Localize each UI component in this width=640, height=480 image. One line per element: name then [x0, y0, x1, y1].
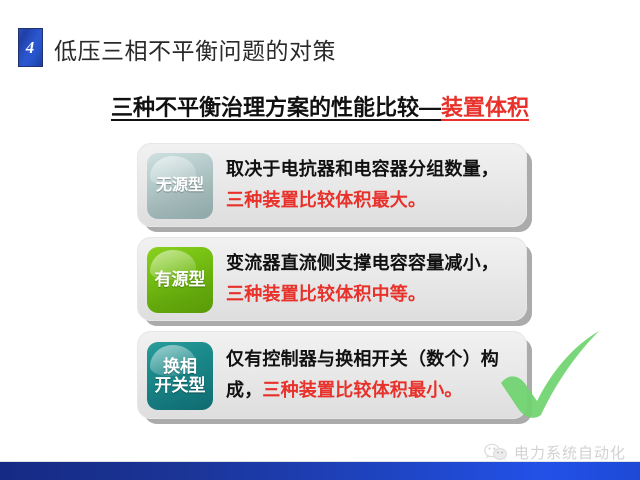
footer-brand-text: 电力系统自动化: [514, 442, 626, 463]
card-body-text: 变流器直流侧支撑电容容量减小，三种装置比较体积中等。: [226, 248, 516, 310]
card-text-accent: 三种装置比较体积最小。: [262, 380, 462, 400]
card-badge-passive: 无源型: [147, 153, 213, 219]
section-number-badge: 4: [18, 28, 43, 67]
card-text-accent: 三种装置比较体积中等。: [226, 284, 426, 304]
comparison-card: 无源型 取决于电抗器和电容器分组数量，三种装置比较体积最大。: [137, 143, 527, 227]
card-body-text: 仅有控制器与换相开关（数个）构成，三种装置比较体积最小。: [226, 344, 516, 406]
comparison-card: 有源型 变流器直流侧支撑电容容量减小，三种装置比较体积中等。: [137, 237, 527, 321]
slide-header: 4 低压三相不平衡问题的对策: [0, 0, 640, 78]
footer-accent-bar: [0, 462, 640, 480]
page-title: 低压三相不平衡问题的对策: [54, 32, 336, 66]
badge-label-line2: 开关型: [155, 376, 206, 395]
comparison-card: 换相 开关型 仅有控制器与换相开关（数个）构成，三种装置比较体积最小。: [137, 331, 527, 419]
card-body-text: 取决于电抗器和电容器分组数量，三种装置比较体积最大。: [226, 154, 516, 216]
wechat-icon: [484, 443, 508, 462]
subtitle-main-text: 三种不平衡治理方案的性能比较—: [111, 95, 441, 120]
card-text-main: 取决于电抗器和电容器分组数量，: [226, 159, 499, 179]
badge-label: 有源型: [155, 270, 206, 289]
card-badge-phase-switch: 换相 开关型: [147, 342, 213, 410]
card-text-main: 变流器直流侧支撑电容容量减小，: [226, 253, 499, 273]
card-text-accent: 三种装置比较体积最大。: [226, 190, 426, 210]
card-badge-active: 有源型: [147, 247, 213, 313]
slide: 4 低压三相不平衡问题的对策 三种不平衡治理方案的性能比较—装置体积 无源型 取…: [0, 0, 640, 480]
subtitle: 三种不平衡治理方案的性能比较—装置体积: [0, 90, 640, 122]
slide-footer: 电力系统自动化: [0, 440, 640, 480]
footer-brand: 电力系统自动化: [484, 442, 626, 463]
section-number-text: 4: [26, 39, 36, 56]
subtitle-accent-text: 装置体积: [441, 95, 529, 120]
badge-label: 换相: [163, 357, 197, 376]
badge-label: 无源型: [156, 177, 204, 195]
